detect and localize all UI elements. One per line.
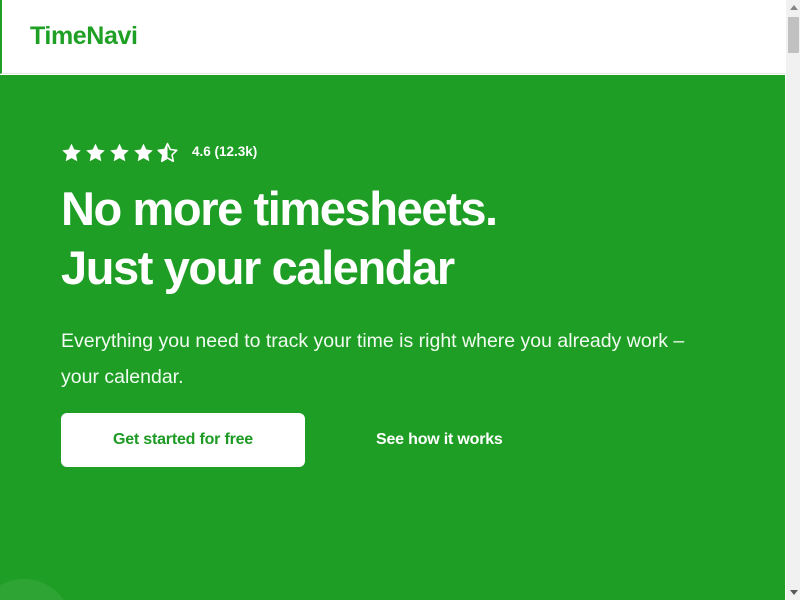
star-icon-3 bbox=[109, 142, 130, 163]
scroll-down-arrow-icon[interactable] bbox=[786, 585, 800, 600]
star-icon-4 bbox=[133, 142, 154, 163]
hero-subheadline: Everything you need to track your time i… bbox=[61, 323, 701, 395]
scroll-up-arrow-icon[interactable] bbox=[786, 0, 800, 15]
browser-page: TimeNavi bbox=[0, 0, 800, 600]
page-viewport: TimeNavi bbox=[0, 0, 785, 600]
decorative-circle bbox=[0, 579, 72, 600]
vertical-scrollbar[interactable] bbox=[785, 0, 800, 600]
see-how-it-works-link[interactable]: See how it works bbox=[376, 431, 503, 449]
site-header: TimeNavi bbox=[0, 0, 785, 74]
star-icon-1 bbox=[61, 142, 82, 163]
page-title: No more timesheets. Just your calendar bbox=[61, 179, 741, 297]
cta-row: Get started for free See how it works bbox=[61, 413, 503, 467]
rating-row: 4.6 (12.3k) bbox=[61, 141, 257, 163]
scrollbar-thumb[interactable] bbox=[788, 17, 799, 53]
chevron-up-icon bbox=[790, 5, 798, 10]
headline-line-2: Just your calendar bbox=[61, 238, 741, 297]
chevron-down-icon bbox=[790, 590, 798, 595]
hero-section: 4.6 (12.3k) No more timesheets. Just you… bbox=[0, 75, 785, 600]
get-started-button[interactable]: Get started for free bbox=[61, 413, 305, 467]
rating-text: 4.6 (12.3k) bbox=[192, 145, 257, 159]
star-icon-2 bbox=[85, 142, 106, 163]
brand-logo[interactable]: TimeNavi bbox=[30, 24, 138, 49]
star-icon-5-half bbox=[157, 142, 178, 163]
headline-line-1: No more timesheets. bbox=[61, 179, 741, 238]
